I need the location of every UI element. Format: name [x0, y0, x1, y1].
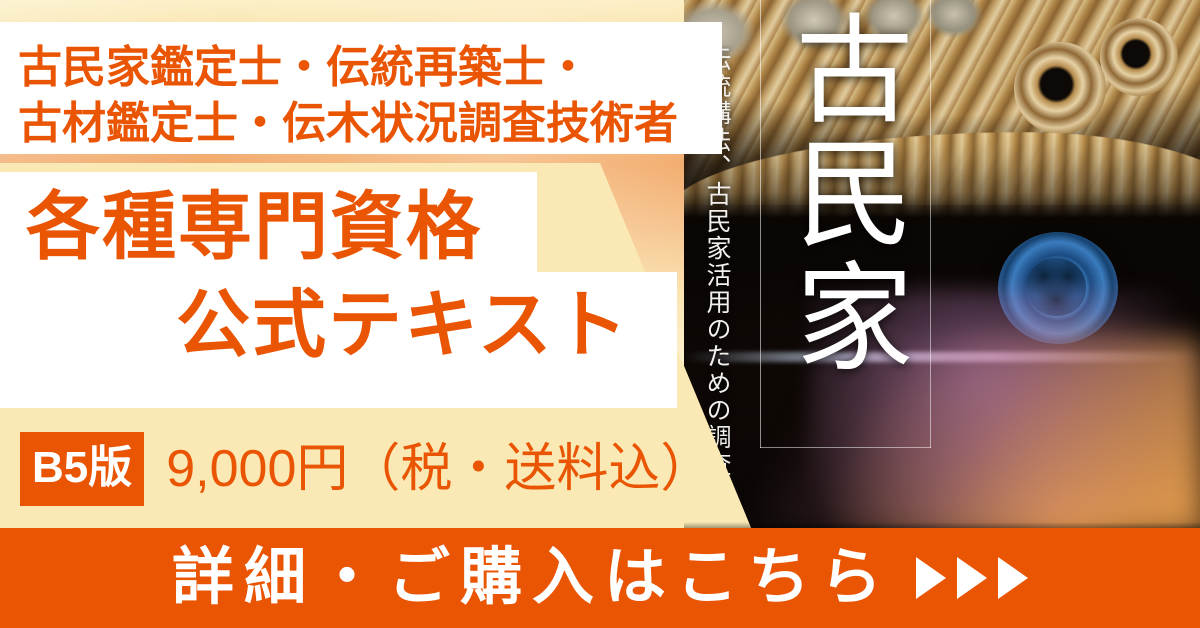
triangle-right-icon	[998, 557, 1028, 599]
cover-frame-rule-left	[760, 0, 761, 448]
triangle-right-icon	[916, 557, 946, 599]
qualification-list-panel: 古民家鑑定士・伝統再築士・ 古材鑑定士・伝木状況調査技術者	[0, 22, 722, 154]
cta-button[interactable]: 詳細・ご購入はこちら	[0, 528, 1200, 628]
format-badge: B5版	[20, 432, 144, 506]
book-cover-image: 伝統構法、古民家活用のための調査と再生の 古民家	[684, 0, 1200, 530]
price-row: B5版 9,000円（税・送料込）	[0, 418, 700, 520]
qualification-line-2: 古材鑑定士・伝木状況調査技術者	[18, 96, 678, 152]
cover-warm-glow-secondary	[684, 340, 1200, 530]
headline-line-1: 各種専門資格	[26, 190, 482, 264]
price-amount: 9,000円（税・送料込）	[166, 443, 712, 495]
cta-arrow-group	[916, 557, 1028, 599]
cover-frame-rule-bottom	[760, 447, 931, 448]
triangle-right-icon	[957, 557, 987, 599]
promo-banner: 伝統構法、古民家活用のための調査と再生の 古民家 古民家鑑定士・伝統再築士・ 古…	[0, 0, 1200, 628]
qualification-line-1: 古民家鑑定士・伝統再築士・	[18, 40, 678, 96]
carving-curl-left	[1014, 42, 1106, 134]
qualification-list-text: 古民家鑑定士・伝統再築士・ 古材鑑定士・伝木状況調査技術者	[18, 40, 678, 153]
cta-label: 詳細・ご購入はこちら	[172, 547, 892, 609]
cover-frame-rule-right	[930, 0, 931, 448]
carving-curl-right	[1100, 18, 1178, 96]
book-cover-title: 古民家	[782, 8, 910, 380]
headline-line-2: 公式テキスト	[176, 288, 630, 362]
